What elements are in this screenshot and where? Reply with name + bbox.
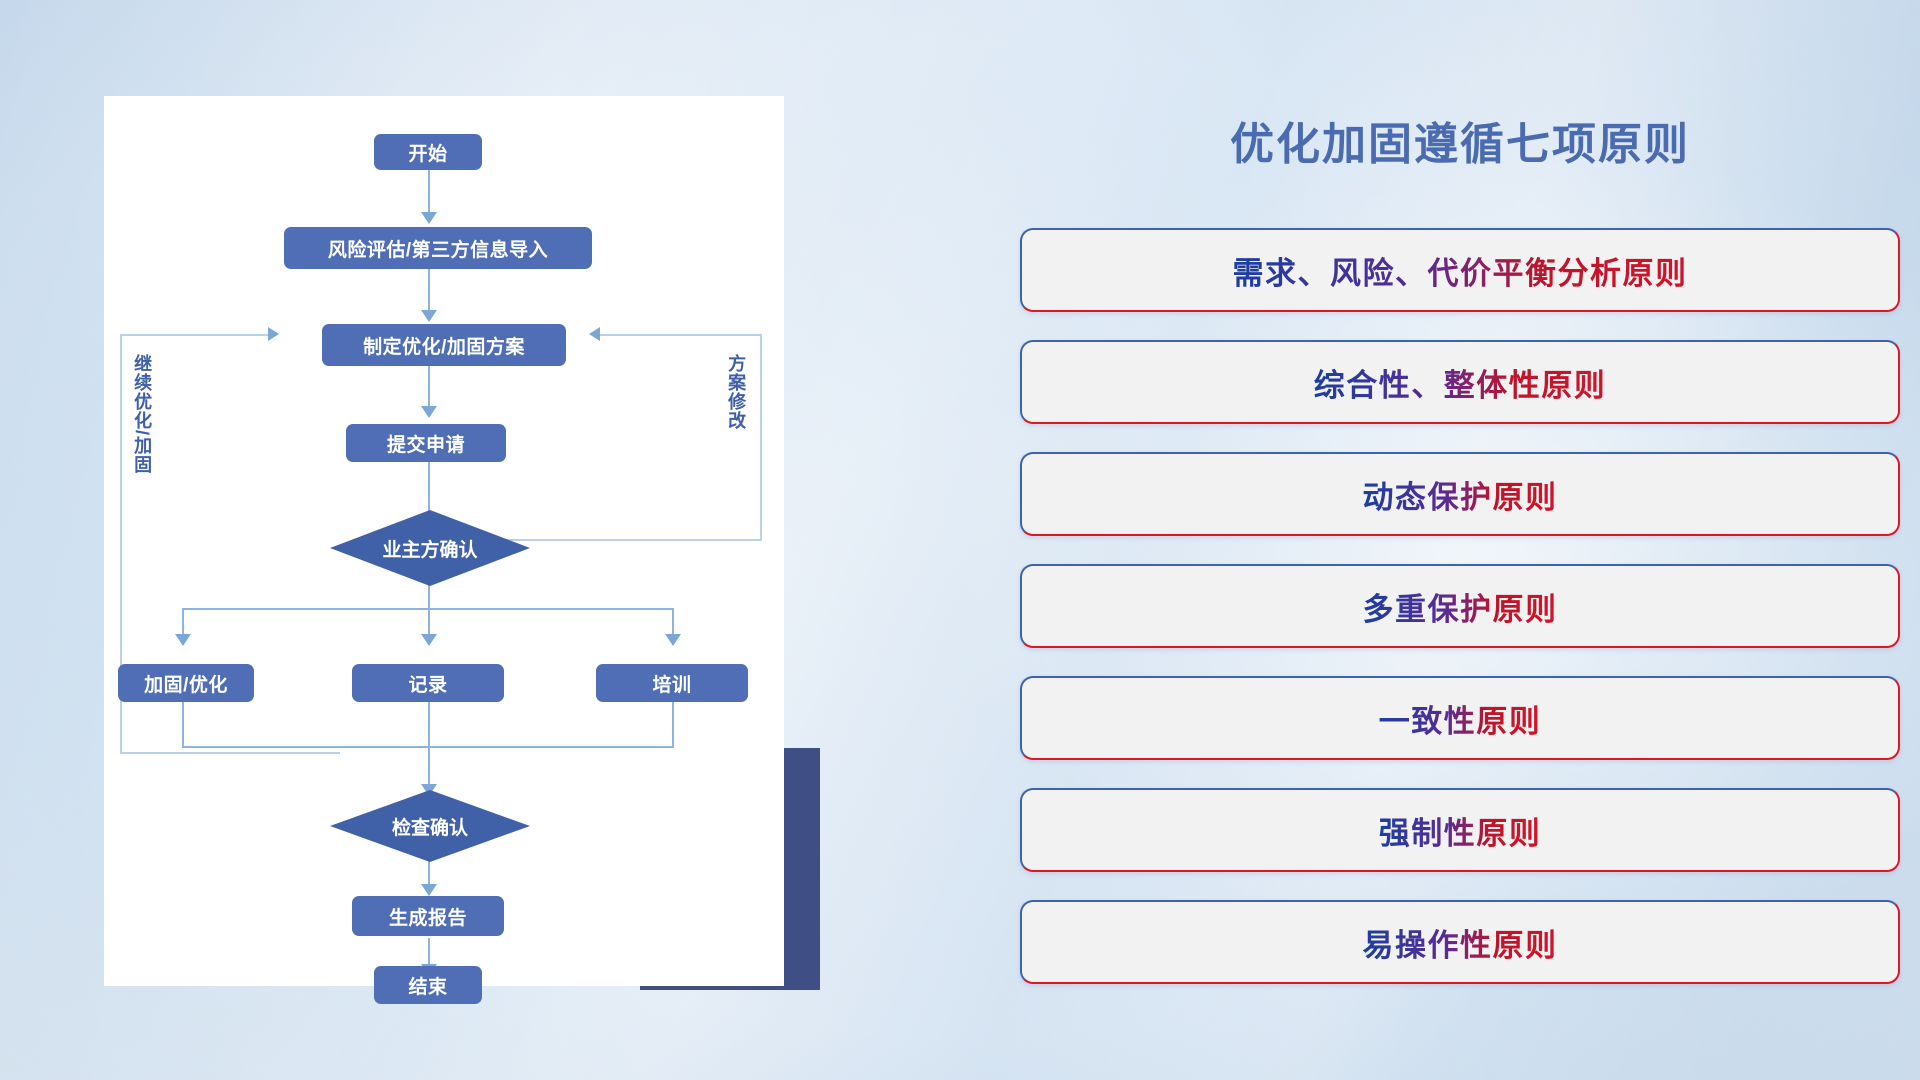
flow-node-make-plan[interactable]: 制定优化/加固方案 [322, 324, 566, 366]
flow-node-training[interactable]: 培训 [596, 664, 748, 702]
connector-plan-to-submit [428, 366, 430, 410]
connector-start-to-risk [428, 168, 430, 216]
flow-node-make-plan-label: 制定优化/加固方案 [363, 332, 525, 359]
arrowhead-bus-record [421, 634, 437, 646]
flow-node-record[interactable]: 记录 [352, 664, 504, 702]
flow-edge-label-left-loop: 继续优化/加固 [132, 354, 151, 504]
principle-card-label: 一致性原则 [1379, 696, 1542, 741]
connector-risk-to-plan [428, 268, 430, 314]
principles-title: 优化加固遵循七项原则 [1020, 108, 1900, 172]
connector-right-loop-bottom [508, 539, 762, 541]
connector-record-to-check [428, 702, 430, 788]
arrowhead-risk-to-plan [421, 310, 437, 322]
flow-edge-label-right-loop: 方案修改 [726, 354, 745, 464]
flow-node-check-confirm[interactable]: 检查确认 [330, 790, 530, 862]
principle-card[interactable]: 多重保护原则 [1020, 564, 1900, 648]
flow-node-reinforce-optimize[interactable]: 加固/优化 [118, 664, 254, 702]
flow-node-submit-application-label: 提交申请 [387, 430, 465, 457]
principle-card[interactable]: 一致性原则 [1020, 676, 1900, 760]
principle-card-label: 需求、风险、代价平衡分析原则 [1233, 248, 1688, 293]
flow-node-owner-confirm-label: 业主方确认 [382, 535, 477, 562]
flow-node-risk-assessment-label: 风险评估/第三方信息导入 [328, 235, 548, 262]
flow-node-reinforce-optimize-label: 加固/优化 [144, 670, 228, 697]
principles-pane: 优化加固遵循七项原则 需求、风险、代价平衡分析原则 综合性、整体性原则 动态保护… [1020, 0, 1900, 1080]
arrowhead-bus-reinforce [175, 634, 191, 646]
principles-card-list: 需求、风险、代价平衡分析原则 综合性、整体性原则 动态保护原则 多重保护原则 一… [1020, 228, 1900, 1012]
arrowhead-right-loop [589, 327, 600, 341]
arrowhead-check-to-report [421, 884, 437, 896]
flow-node-risk-assessment[interactable]: 风险评估/第三方信息导入 [284, 227, 592, 269]
principle-card-label: 动态保护原则 [1363, 472, 1558, 517]
flow-node-submit-application[interactable]: 提交申请 [346, 424, 506, 462]
flow-node-training-label: 培训 [652, 670, 691, 697]
connector-training-down [672, 702, 674, 748]
arrowhead-bus-training [665, 634, 681, 646]
flow-node-owner-confirm[interactable]: 业主方确认 [330, 510, 530, 586]
flow-node-check-confirm-label: 检查确认 [392, 813, 468, 840]
flow-node-start-label: 开始 [408, 139, 447, 166]
connector-left-loop-top [120, 334, 270, 336]
principle-card[interactable]: 易操作性原则 [1020, 900, 1900, 984]
arrowhead-left-loop [268, 327, 279, 341]
flow-node-record-label: 记录 [408, 670, 447, 697]
flow-node-end[interactable]: 结束 [374, 966, 482, 1004]
principle-card[interactable]: 综合性、整体性原则 [1020, 340, 1900, 424]
arrowhead-start-to-risk [421, 212, 437, 224]
principle-card-label: 易操作性原则 [1363, 920, 1558, 965]
principle-card-label: 多重保护原则 [1363, 584, 1558, 629]
connector-right-loop-top [600, 334, 760, 336]
principle-card[interactable]: 需求、风险、代价平衡分析原则 [1020, 228, 1900, 312]
flowchart-panel: 开始 风险评估/第三方信息导入 制定优化/加固方案 提交申请 业主方确认 加固/… [104, 96, 784, 986]
connector-left-loop-bottom [120, 752, 340, 754]
principle-card[interactable]: 强制性原则 [1020, 788, 1900, 872]
flow-node-end-label: 结束 [408, 972, 447, 999]
flow-node-generate-report-label: 生成报告 [389, 903, 467, 930]
connector-right-loop-vertical [760, 334, 762, 539]
connector-reinforce-down [182, 702, 184, 748]
principle-card[interactable]: 动态保护原则 [1020, 452, 1900, 536]
connector-merge-bus [182, 746, 672, 748]
flow-node-generate-report[interactable]: 生成报告 [352, 896, 504, 936]
principle-card-label: 综合性、整体性原则 [1314, 360, 1607, 405]
arrowhead-plan-to-submit [421, 406, 437, 418]
principle-card-label: 强制性原则 [1379, 808, 1542, 853]
flow-node-start[interactable]: 开始 [374, 134, 482, 170]
